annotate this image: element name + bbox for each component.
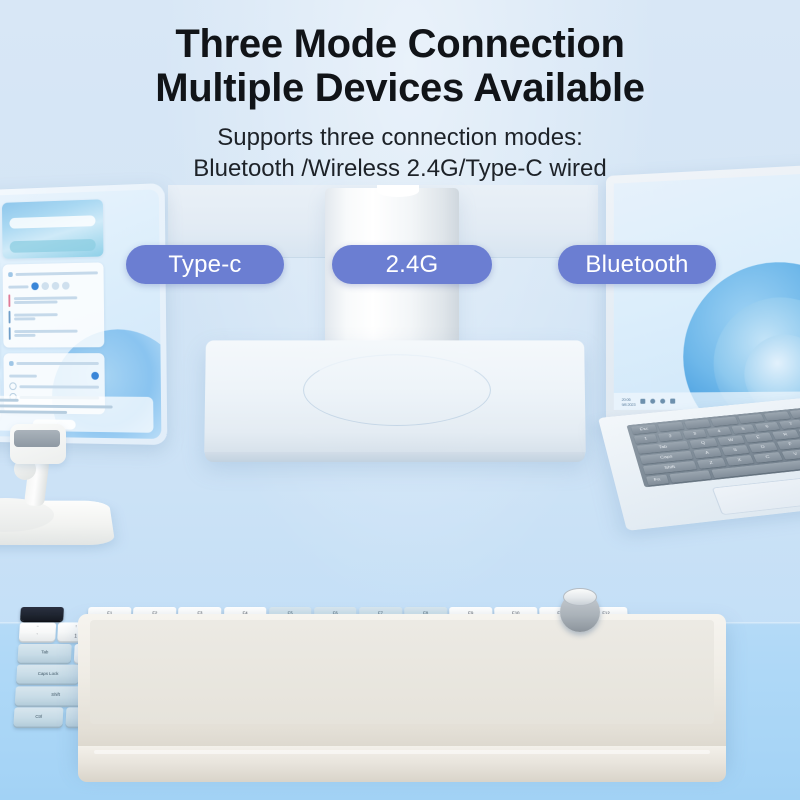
laptop-key[interactable]: C xyxy=(753,452,782,463)
laptop-key[interactable]: E xyxy=(744,433,772,443)
keycap-secondary-legend: ~ xyxy=(20,625,56,629)
laptop-key-a[interactable]: A xyxy=(693,448,721,459)
event-text xyxy=(14,329,98,338)
laptop-key[interactable] xyxy=(737,414,764,424)
product-marketing-image: 20:06 9/8 2023 Esc 1 xyxy=(0,0,800,800)
widget-line xyxy=(14,330,78,333)
widget-card-header xyxy=(8,267,98,280)
laptop-key-z[interactable]: Z xyxy=(697,458,726,469)
volume-knob[interactable] xyxy=(563,588,597,606)
subtitle-line-2: Bluetooth /Wireless 2.4G/Type-C wired xyxy=(0,153,800,184)
event-color-bar xyxy=(9,311,11,324)
monitor-base-ring xyxy=(303,354,491,426)
todo-icon xyxy=(9,361,14,366)
wifi-icon[interactable] xyxy=(660,399,665,404)
monitor-base-edge xyxy=(205,452,585,462)
laptop-key[interactable]: V xyxy=(781,449,800,460)
connection-pill-type-c[interactable]: Type-c xyxy=(126,245,284,284)
pill-label: 2.4G xyxy=(386,251,439,279)
calendar-day[interactable] xyxy=(52,282,60,290)
widget-line xyxy=(0,410,67,414)
mechanical-keyboard xyxy=(78,596,726,764)
laptop-keyboard-deck: Esc 1 2 3 4 5 6 7 Tab Q xyxy=(626,404,800,487)
calendar-day-selector[interactable] xyxy=(8,281,98,290)
laptop-lid: 20:06 9/8 2023 xyxy=(606,163,800,428)
network-icon[interactable] xyxy=(650,399,655,404)
monitor-column-notch xyxy=(377,185,419,197)
headline-line-1: Three Mode Connection xyxy=(0,22,800,66)
widget-line xyxy=(9,374,37,377)
laptop-key[interactable]: 5 xyxy=(731,424,756,434)
laptop-key[interactable]: R xyxy=(772,430,800,440)
widget-line xyxy=(14,313,57,316)
laptop-key[interactable] xyxy=(789,409,800,418)
keycap-legend: Tab xyxy=(41,651,48,655)
keycap-ctrl[interactable]: Ctrl xyxy=(13,707,64,726)
calendar-event xyxy=(9,327,99,340)
laptop-key-esc[interactable]: Esc xyxy=(631,424,657,434)
widget-search-field[interactable] xyxy=(9,215,95,228)
calendar-day[interactable] xyxy=(41,282,49,290)
keycap--[interactable]: ~` xyxy=(19,623,56,642)
keycap-legend: Ctrl xyxy=(35,715,42,719)
laptop-key[interactable] xyxy=(685,419,712,429)
todo-item[interactable] xyxy=(9,382,99,390)
laptop-key[interactable] xyxy=(658,422,685,432)
connection-pill-2-4g[interactable]: 2.4G xyxy=(332,245,492,284)
calendar-event xyxy=(9,310,99,324)
clock-date: 9/8 2023 xyxy=(622,401,636,406)
taskbar-clock[interactable]: 20:06 9/8 2023 xyxy=(622,396,636,406)
widget-line xyxy=(8,285,28,288)
pill-label: Type-c xyxy=(168,251,241,279)
laptop-key[interactable]: 7 xyxy=(779,420,800,430)
laptop-key-fn[interactable]: Fn xyxy=(646,475,669,486)
widget-line xyxy=(16,362,98,365)
tablet-stand-clip xyxy=(14,430,60,447)
widget-line xyxy=(0,404,113,408)
event-text xyxy=(14,312,98,322)
tablet-screen xyxy=(0,189,161,439)
calendar-day[interactable] xyxy=(62,282,70,290)
keyboard-bezel-highlight xyxy=(94,750,710,754)
calendar-icon xyxy=(8,272,13,277)
laptop-key[interactable]: 6 xyxy=(755,422,780,432)
battery-icon[interactable] xyxy=(640,399,645,404)
show-hidden-icons-chevron-icon[interactable] xyxy=(670,399,675,404)
widget-photo-caption-bar xyxy=(10,239,96,253)
monitor-stand-base xyxy=(204,340,586,458)
laptop-key-q[interactable]: Q xyxy=(690,438,718,448)
headline-line-2: Multiple Devices Available xyxy=(0,66,800,110)
laptop-base: Esc 1 2 3 4 5 6 7 Tab Q xyxy=(598,394,800,531)
event-text xyxy=(14,295,98,305)
widget-card-header xyxy=(9,358,99,369)
widget-line xyxy=(14,334,36,337)
tablet-device xyxy=(0,183,167,445)
event-color-bar xyxy=(8,294,10,307)
widget-card-search xyxy=(2,199,103,259)
widget-line xyxy=(14,296,78,300)
keyboard-plate xyxy=(90,620,714,724)
keycap-legend: Shift xyxy=(51,693,60,697)
widget-card-calendar xyxy=(3,262,105,347)
widget-line xyxy=(0,398,19,401)
widgets-left-column xyxy=(0,203,1,427)
keycap-legend: Caps Lock xyxy=(38,672,59,676)
laptop-key[interactable]: 4 xyxy=(707,427,731,437)
widget-line xyxy=(19,385,99,388)
connection-pill-bluetooth[interactable]: Bluetooth xyxy=(558,245,716,284)
todo-checkbox[interactable] xyxy=(9,382,16,390)
subtitle-line-1: Supports three connection modes: xyxy=(0,122,800,153)
widget-line xyxy=(14,317,36,320)
event-color-bar xyxy=(9,327,11,340)
laptop-key[interactable]: 1 xyxy=(634,434,658,444)
laptop-key[interactable]: S xyxy=(721,445,749,456)
headline-block: Three Mode Connection Multiple Devices A… xyxy=(0,22,800,184)
calendar-selected-day[interactable] xyxy=(31,282,38,290)
pill-label: Bluetooth xyxy=(585,251,688,279)
widget-line xyxy=(16,271,98,276)
todo-count-badge xyxy=(91,372,99,380)
laptop-key[interactable] xyxy=(711,417,738,427)
keycap-primary-legend: ` xyxy=(19,635,55,640)
laptop-key-w[interactable]: W xyxy=(717,435,745,445)
widget-line xyxy=(14,301,57,305)
laptop-key[interactable]: 2 xyxy=(658,432,682,442)
subtitle-block: Supports three connection modes: Bluetoo… xyxy=(0,122,800,184)
laptop-key[interactable] xyxy=(764,411,791,421)
keycap-tab[interactable]: Tab xyxy=(17,644,72,663)
keyboard-case xyxy=(78,614,726,764)
laptop-key[interactable] xyxy=(669,470,711,483)
keycap-caps-lock[interactable]: Caps Lock xyxy=(16,665,80,684)
laptop-key[interactable]: D xyxy=(749,442,777,452)
todo-list-selector[interactable] xyxy=(9,372,99,380)
keyboard-front-bezel xyxy=(78,746,726,782)
laptop-key[interactable]: 3 xyxy=(683,429,707,439)
keycap-blank[interactable] xyxy=(20,607,64,621)
laptop-key[interactable]: X xyxy=(725,455,754,466)
laptop-trackpad[interactable] xyxy=(712,477,800,515)
calendar-event xyxy=(8,293,98,307)
laptop-screen: 20:06 9/8 2023 xyxy=(614,172,800,410)
laptop-key[interactable]: F xyxy=(776,439,800,449)
